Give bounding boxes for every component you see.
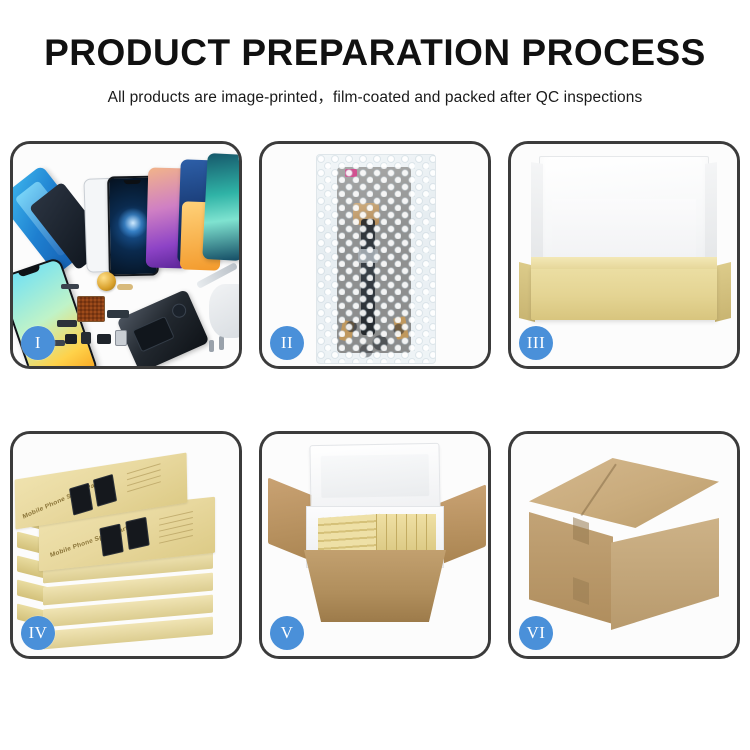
header: PRODUCT PREPARATION PROCESS All products…	[0, 0, 750, 107]
step-panel-1[interactable]: I	[10, 141, 242, 369]
screw-icon	[209, 340, 214, 352]
product-photo-icon	[93, 474, 117, 507]
step-badge-4: IV	[21, 616, 55, 650]
carton-left-face	[529, 512, 613, 624]
retail-box-stack: Mobile Phone Spare Parts Mobile Phone Sp…	[15, 448, 239, 648]
foam-lid-open	[309, 443, 440, 511]
product-photo-icon	[125, 517, 149, 550]
gold-box-base	[531, 266, 717, 320]
teal-phone-screen-icon	[202, 153, 239, 261]
step-badge-1: I	[21, 326, 55, 360]
step-badge-6: VI	[519, 616, 553, 650]
step-panel-4[interactable]: Mobile Phone Spare Parts Mobile Phone Sp…	[10, 431, 242, 659]
screw-icon	[219, 336, 224, 350]
bubble-texture	[317, 155, 435, 363]
step-panel-5[interactable]: V	[259, 431, 491, 659]
process-step-grid: I II	[10, 141, 740, 676]
spec-line	[127, 463, 161, 474]
carton-top-face	[529, 458, 719, 528]
page-title: PRODUCT PREPARATION PROCESS	[0, 34, 750, 73]
spare-chip-icon	[65, 334, 77, 344]
product-photo-icon	[99, 524, 123, 557]
connector-grid-icon	[77, 296, 105, 322]
hand-icon	[209, 284, 239, 338]
page-root: PRODUCT PREPARATION PROCESS All products…	[0, 0, 750, 750]
step-panel-6[interactable]: VI	[508, 431, 740, 659]
phone-backplate-icon	[116, 289, 209, 366]
spare-chip-icon	[61, 284, 79, 289]
bubble-wrap-bag	[316, 154, 436, 364]
spare-chip-icon	[97, 334, 111, 344]
spare-chip-icon	[57, 320, 77, 327]
carton-right-face	[611, 518, 719, 630]
spare-chip-icon	[81, 332, 91, 344]
spare-chip-icon	[115, 330, 127, 346]
product-photo-icon	[69, 483, 93, 516]
carton-body	[304, 550, 446, 622]
gold-flex-icon	[117, 284, 133, 290]
step-panel-2[interactable]: II	[259, 141, 491, 369]
page-subtitle: All products are image-printed，film-coat…	[0, 85, 750, 107]
gold-box-right-side	[715, 262, 731, 322]
step-badge-5: V	[270, 616, 304, 650]
step-panel-3[interactable]: III	[508, 141, 740, 369]
step-badge-3: III	[519, 326, 553, 360]
spare-chip-icon	[107, 310, 129, 318]
step-badge-2: II	[270, 326, 304, 360]
copper-coil-icon	[97, 272, 116, 291]
